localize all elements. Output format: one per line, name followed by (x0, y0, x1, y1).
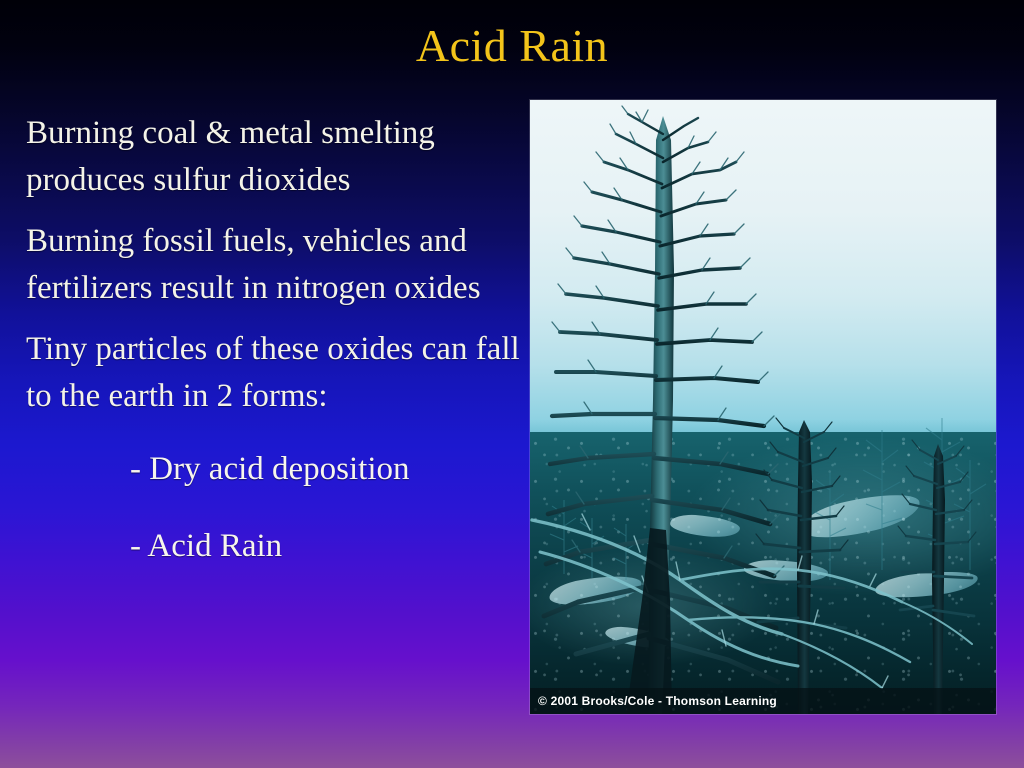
dead-trees-illustration (530, 100, 996, 714)
dead-forest-photo: © 2001 Brooks/Cole - Thomson Learning (530, 100, 996, 714)
bullet-paragraph: Tiny particles of these oxides can fall … (26, 326, 522, 420)
photo-credit-caption: © 2001 Brooks/Cole - Thomson Learning (530, 688, 996, 714)
bullet-paragraph: Burning fossil fuels, vehicles and ferti… (26, 218, 522, 312)
bullet-paragraph: Burning coal & metal smelting produces s… (26, 110, 522, 204)
slide: Acid Rain Burning coal & metal smelting … (0, 0, 1024, 768)
sub-bullet-item: - Dry acid deposition (26, 446, 522, 493)
foreground-trunk (626, 528, 672, 714)
sub-bullet-item: - Acid Rain (26, 523, 522, 570)
body-text-column: Burning coal & metal smelting produces s… (26, 110, 522, 570)
page-title: Acid Rain (0, 16, 1024, 76)
